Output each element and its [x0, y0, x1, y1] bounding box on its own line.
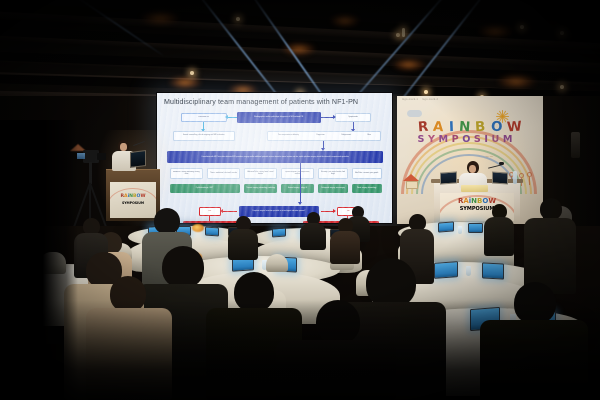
list-item	[300, 212, 326, 250]
flow-box-specialty-1: Head/Neck - airway, swallowing, hearing,…	[170, 168, 203, 179]
flow-box-green-4: Orthopaedic surgery, neurosurgery	[318, 184, 348, 193]
flow-box-mdt-consultation: Consultation with MDT to include dedicat…	[167, 151, 383, 163]
tablet-device	[272, 228, 286, 238]
flow-box-genetic-counselling: Genetic counselling, clinical mapping an…	[173, 131, 235, 141]
projection-screen: Multidisciplinary team management of pat…	[156, 92, 393, 224]
lectern-subtitle: SYMPOSIUM	[110, 201, 156, 205]
flow-box-indications: Pain compression or deformity Progressio…	[267, 131, 381, 141]
backdrop-scribble: ~~	[485, 154, 493, 160]
tablet-device	[205, 227, 219, 237]
centerpiece-flower	[192, 224, 204, 232]
water-glass	[458, 226, 462, 234]
cloud-icon	[407, 110, 422, 117]
backdrop-subtitle: S Y M P O S I U M	[406, 134, 524, 145]
list-item	[228, 216, 258, 260]
tablet-device	[482, 262, 504, 279]
list-item	[484, 204, 514, 256]
backdrop-title: R A I N B O W	[406, 119, 534, 135]
lectern-laptop	[130, 150, 146, 168]
flow-box-green-2: Thoracic surgery, pulmonology, cardiolog…	[244, 184, 277, 193]
backdrop-sponsor-logos: logo-mark-1 logo-mark-2	[402, 98, 438, 101]
lectern-title: RAiNBOW	[110, 194, 156, 199]
flow-box-green-5: Plastic surgery, dermatology	[352, 184, 382, 193]
flow-box-specialty-6: Skin/Other - cosmesis, pain, growth	[352, 168, 382, 179]
flow-box-green-3: General surgery, urology, GI	[281, 184, 314, 193]
tablet-device	[468, 223, 483, 233]
tablet-device	[438, 221, 454, 232]
chair	[266, 254, 288, 272]
flow-chip-yes: Yes	[199, 207, 221, 216]
slide-title: Multidisciplinary team management of pat…	[164, 98, 386, 106]
list-item	[524, 198, 576, 294]
water-bottle	[513, 171, 517, 184]
house-icon	[403, 174, 420, 189]
flow-box-plexiform: Plexiform NF	[181, 113, 227, 122]
flow-box-specialty-3: Abdomen/Pelvis - urinary, bowel, sexual …	[244, 168, 277, 179]
name-plate	[461, 185, 488, 192]
flow-box-green-1: Ophthalmologic, ENT	[170, 184, 240, 193]
flow-box-symptomatic: Symptomatic	[335, 113, 371, 122]
slide-flowchart: Plexiform NF Radiographic and/or patholo…	[163, 110, 387, 221]
podium-laptop-right	[492, 171, 508, 184]
foreground-shadow-bottom	[0, 300, 600, 400]
flow-box-specialty-4: Spine/Paraspinal - cord compression, sco…	[281, 168, 314, 179]
conference-room-photo: Multidisciplinary team management of pat…	[0, 0, 600, 400]
flow-box-diagnosis: Radiographic and/or pathologic diagnosis…	[237, 112, 321, 123]
flow-box-specialty-5: Extremity - pain, motor function, limb l…	[318, 168, 348, 179]
wall-lamp	[571, 132, 580, 158]
speaker-stage-right	[458, 161, 488, 187]
podium-laptop-left	[440, 171, 457, 184]
slide-content: Multidisciplinary team management of pat…	[157, 93, 392, 223]
flow-box-specialty-2: Thorax - mediastinal, chest wall, vascul…	[207, 168, 240, 179]
water-glass	[466, 266, 471, 276]
